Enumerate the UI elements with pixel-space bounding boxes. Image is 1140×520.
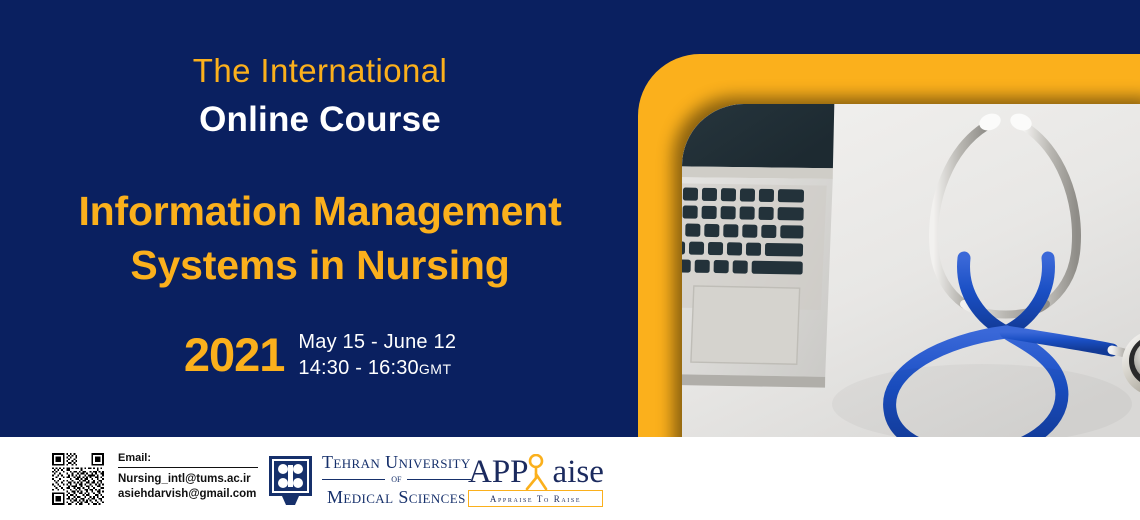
- schedule-details: May 15 - June 12 14:30 - 16:30GMT: [298, 328, 456, 380]
- university-connector-row: of: [322, 474, 471, 485]
- kicker-text: The International: [0, 52, 640, 90]
- appraise-r-figure-icon: [524, 454, 550, 490]
- course-year: 2021: [184, 331, 285, 378]
- university-connector: of: [391, 474, 401, 485]
- kicker-strong-text: Online Course: [0, 100, 640, 140]
- university-line-2: Medical Sciences: [327, 488, 466, 506]
- course-time: 14:30 - 16:30GMT: [298, 357, 456, 380]
- connector-rule-left: [322, 479, 385, 480]
- course-time-range: 14:30 - 16:30: [298, 357, 418, 379]
- course-title-line-2: Systems in Nursing: [0, 238, 640, 292]
- schedule-block: 2021 May 15 - June 12 14:30 - 16:30GMT: [0, 328, 640, 380]
- course-title: Information Management Systems in Nursin…: [0, 184, 640, 292]
- course-dates: May 15 - June 12: [298, 331, 456, 354]
- email-address-secondary[interactable]: asiehdarvish@gmail.com: [118, 487, 268, 502]
- email-label: Email:: [118, 451, 268, 465]
- university-line-1: Tehran University: [322, 453, 471, 471]
- photo-illustration: [682, 104, 1140, 462]
- appraise-tagline-box: Appraise To Raise: [468, 490, 603, 507]
- course-banner: The International Online Course Informat…: [0, 0, 1140, 520]
- appraise-logo: APPaise Appraise To Raise: [468, 455, 603, 507]
- hero-photo: [682, 104, 1140, 462]
- appraise-tagline: Appraise To Raise: [490, 494, 581, 504]
- university-emblem-icon: [268, 455, 313, 505]
- email-address-primary[interactable]: Nursing_intl@tums.ac.ir: [118, 472, 268, 487]
- university-name: Tehran University of Medical Sciences: [322, 453, 471, 506]
- tehran-university-logo: Tehran University of Medical Sciences: [268, 453, 471, 506]
- appraise-name-part2: aise: [553, 454, 604, 490]
- course-title-line-1: Information Management: [0, 184, 640, 238]
- footer-bar: Email: Nursing_intl@tums.ac.ir asiehdarv…: [0, 437, 1140, 520]
- connector-rule-right: [407, 479, 470, 480]
- appraise-wordmark: APPaise: [468, 455, 603, 489]
- qr-code-icon[interactable]: [52, 453, 104, 505]
- contact-divider: [118, 467, 258, 468]
- text-column: The International Online Course Informat…: [0, 0, 640, 437]
- course-timezone: GMT: [419, 361, 452, 377]
- appraise-name-part1: APP: [468, 454, 529, 490]
- contact-block: Email: Nursing_intl@tums.ac.ir asiehdarv…: [118, 451, 268, 502]
